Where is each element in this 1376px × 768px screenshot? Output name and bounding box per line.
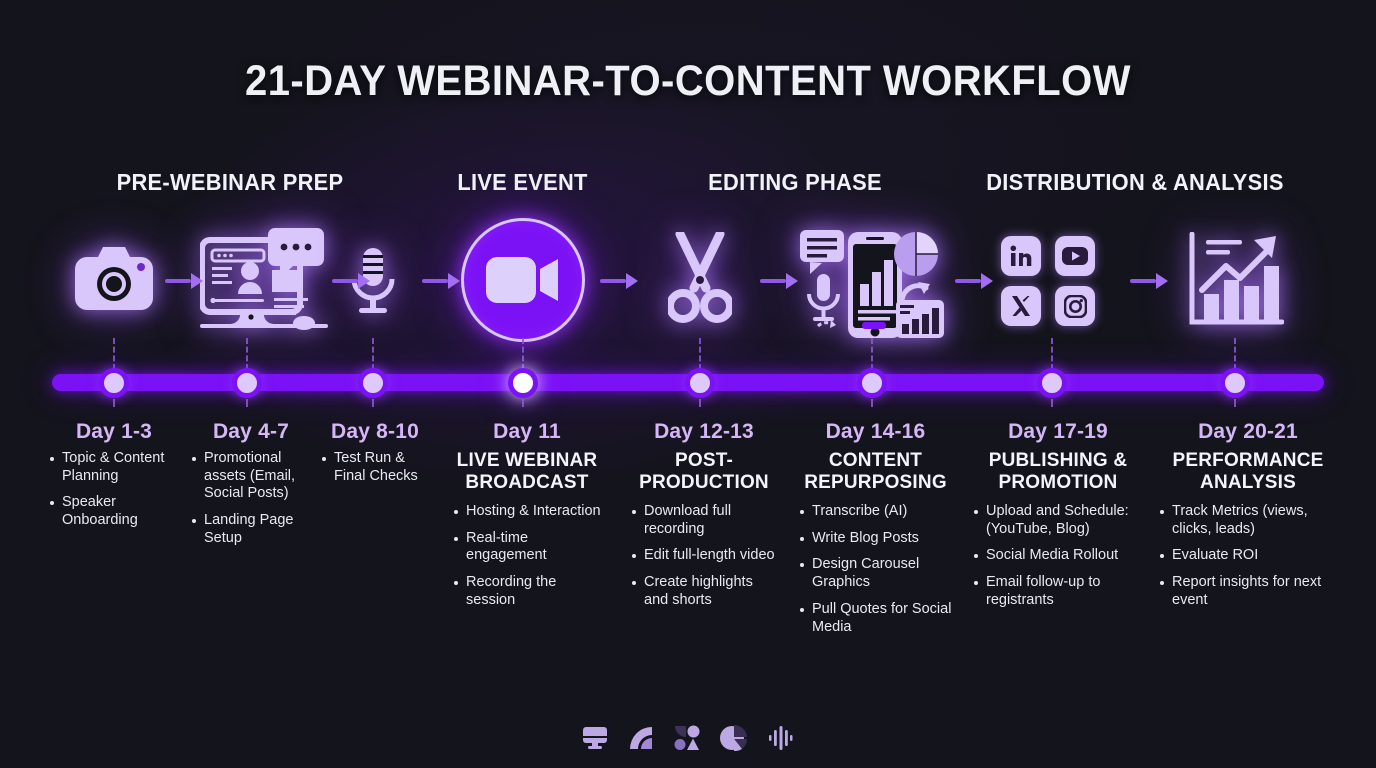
timeline-node[interactable]	[1037, 368, 1067, 398]
task-item: Recording the session	[452, 574, 602, 609]
phase-column: Day 17-19PUBLISHING & PROMOTIONUpload an…	[972, 420, 1144, 619]
task-list: Track Metrics (views, clicks, leads)Eval…	[1158, 503, 1338, 609]
youtube-icon	[1055, 236, 1095, 276]
timeline-stem	[522, 338, 524, 370]
flow-arrow-icon	[165, 274, 205, 288]
phase-header: PRE-WEBINAR PREP	[12, 169, 449, 196]
audio-waveform-icon	[768, 725, 794, 756]
task-item: Real-time engagement	[452, 530, 602, 565]
flow-arrow-icon	[422, 274, 462, 288]
timeline-node[interactable]	[685, 368, 715, 398]
column-subtitle: LIVE WEBINAR BROADCAST	[452, 450, 602, 494]
pie-chart-icon	[720, 725, 748, 756]
task-item: Track Metrics (views, clicks, leads)	[1158, 503, 1338, 538]
phase-column: Day 11LIVE WEBINAR BROADCASTHosting & In…	[452, 420, 602, 619]
task-list: Promotional assets (Email, Social Posts)…	[190, 450, 312, 547]
instagram-icon	[1055, 286, 1095, 326]
day-label: Day 4-7	[190, 420, 312, 444]
task-item: Social Media Rollout	[972, 547, 1144, 565]
timeline-stem-lower	[871, 399, 873, 407]
footer-icon-row	[0, 725, 1376, 756]
timeline-stem-lower	[246, 399, 248, 407]
timeline-stem-lower	[113, 399, 115, 407]
shapes-cluster-icon	[674, 725, 700, 756]
phase-column: Day 20-21PERFORMANCE ANALYSISTrack Metri…	[1158, 420, 1338, 619]
linkedin-icon	[1001, 236, 1041, 276]
social-platforms-icon	[1000, 234, 1104, 330]
task-item: Speaker Onboarding	[48, 494, 180, 529]
timeline-node[interactable]	[1220, 368, 1250, 398]
task-list: Transcribe (AI)Write Blog PostsDesign Ca…	[798, 503, 953, 636]
timeline-stem	[699, 338, 701, 370]
x-twitter-icon	[1001, 286, 1041, 326]
signal-arc-icon	[628, 725, 654, 756]
timeline-stem	[372, 338, 374, 370]
live-video-camera-icon	[461, 218, 585, 342]
day-label: Day 12-13	[630, 420, 778, 444]
timeline-node[interactable]	[232, 368, 262, 398]
phase-header: EDITING PHASE	[629, 169, 962, 196]
task-list: Download full recordingEdit full-length …	[630, 503, 778, 609]
infographic-canvas: 21-DAY WEBINAR-TO-CONTENT WORKFLOW PRE-W…	[0, 0, 1376, 768]
task-item: Evaluate ROI	[1158, 547, 1338, 565]
day-label: Day 20-21	[1158, 420, 1338, 444]
flow-arrow-icon	[955, 274, 995, 288]
phase-column: Day 4-7Promotional assets (Email, Social…	[190, 420, 312, 556]
timeline-stem-lower	[1234, 399, 1236, 407]
day-label: Day 8-10	[320, 420, 430, 444]
flow-arrow-icon	[760, 274, 800, 288]
phase-column: Day 14-16CONTENT REPURPOSINGTranscribe (…	[798, 420, 953, 645]
task-item: Report insights for next event	[1158, 574, 1338, 609]
task-item: Write Blog Posts	[798, 530, 953, 548]
task-item: Test Run & Final Checks	[320, 450, 430, 485]
analytics-growth-icon	[1186, 232, 1284, 328]
timeline-stem	[246, 338, 248, 370]
page-title: 21-DAY WEBINAR-TO-CONTENT WORKFLOW	[48, 57, 1328, 106]
task-item: Upload and Schedule: (YouTube, Blog)	[972, 503, 1144, 538]
column-subtitle: PUBLISHING & PROMOTION	[972, 450, 1144, 494]
timeline-stem	[1051, 338, 1053, 370]
timeline-node[interactable]	[508, 368, 538, 398]
task-list: Test Run & Final Checks	[320, 450, 430, 485]
timeline-stem	[871, 338, 873, 370]
webinar-monitor-icon	[200, 226, 328, 334]
day-label: Day 14-16	[798, 420, 953, 444]
task-item: Transcribe (AI)	[798, 503, 953, 521]
timeline-stem-lower	[1051, 399, 1053, 407]
column-subtitle: CONTENT REPURPOSING	[798, 450, 953, 494]
task-list: Hosting & InteractionReal-time engagemen…	[452, 503, 602, 609]
task-item: Hosting & Interaction	[452, 503, 602, 521]
phase-column: Day 12-13POST-PRODUCTIONDownload full re…	[630, 420, 778, 619]
phase-header: DISTRIBUTION & ANALYSIS	[936, 169, 1335, 196]
phase-header: LIVE EVENT	[401, 169, 643, 196]
timeline-stem-lower	[522, 399, 524, 407]
flow-arrow-icon	[1130, 274, 1170, 288]
timeline-node[interactable]	[857, 368, 887, 398]
task-item: Promotional assets (Email, Social Posts)	[190, 450, 312, 503]
camera-icon	[74, 245, 154, 311]
phase-column: Day 8-10Test Run & Final Checks	[320, 420, 430, 494]
task-list: Topic & Content PlanningSpeaker Onboardi…	[48, 450, 180, 530]
task-item: Create highlights and shorts	[630, 574, 778, 609]
scissors-icon	[668, 232, 732, 326]
task-item: Email follow-up to registrants	[972, 574, 1144, 609]
timeline-stem-lower	[699, 399, 701, 407]
flow-arrow-icon	[332, 274, 372, 288]
phase-column: Day 1-3Topic & Content PlanningSpeaker O…	[48, 420, 180, 539]
timeline-node[interactable]	[358, 368, 388, 398]
task-list: Upload and Schedule: (YouTube, Blog)Soci…	[972, 503, 1144, 609]
timeline-node[interactable]	[99, 368, 129, 398]
content-repurposing-icon	[800, 222, 944, 344]
task-item: Pull Quotes for Social Media	[798, 601, 953, 636]
day-label: Day 11	[452, 420, 602, 444]
timeline-stem	[1234, 338, 1236, 370]
task-item: Topic & Content Planning	[48, 450, 180, 485]
task-item: Download full recording	[630, 503, 778, 538]
timeline-stem	[113, 338, 115, 370]
timeline-stem-lower	[372, 399, 374, 407]
day-label: Day 1-3	[48, 420, 180, 444]
day-label: Day 17-19	[972, 420, 1144, 444]
task-item: Edit full-length video	[630, 547, 778, 565]
column-subtitle: POST-PRODUCTION	[630, 450, 778, 494]
task-item: Landing Page Setup	[190, 512, 312, 547]
flow-arrow-icon	[600, 274, 640, 288]
monitor-icon	[582, 725, 608, 756]
task-item: Design Carousel Graphics	[798, 556, 953, 591]
column-subtitle: PERFORMANCE ANALYSIS	[1158, 450, 1338, 494]
